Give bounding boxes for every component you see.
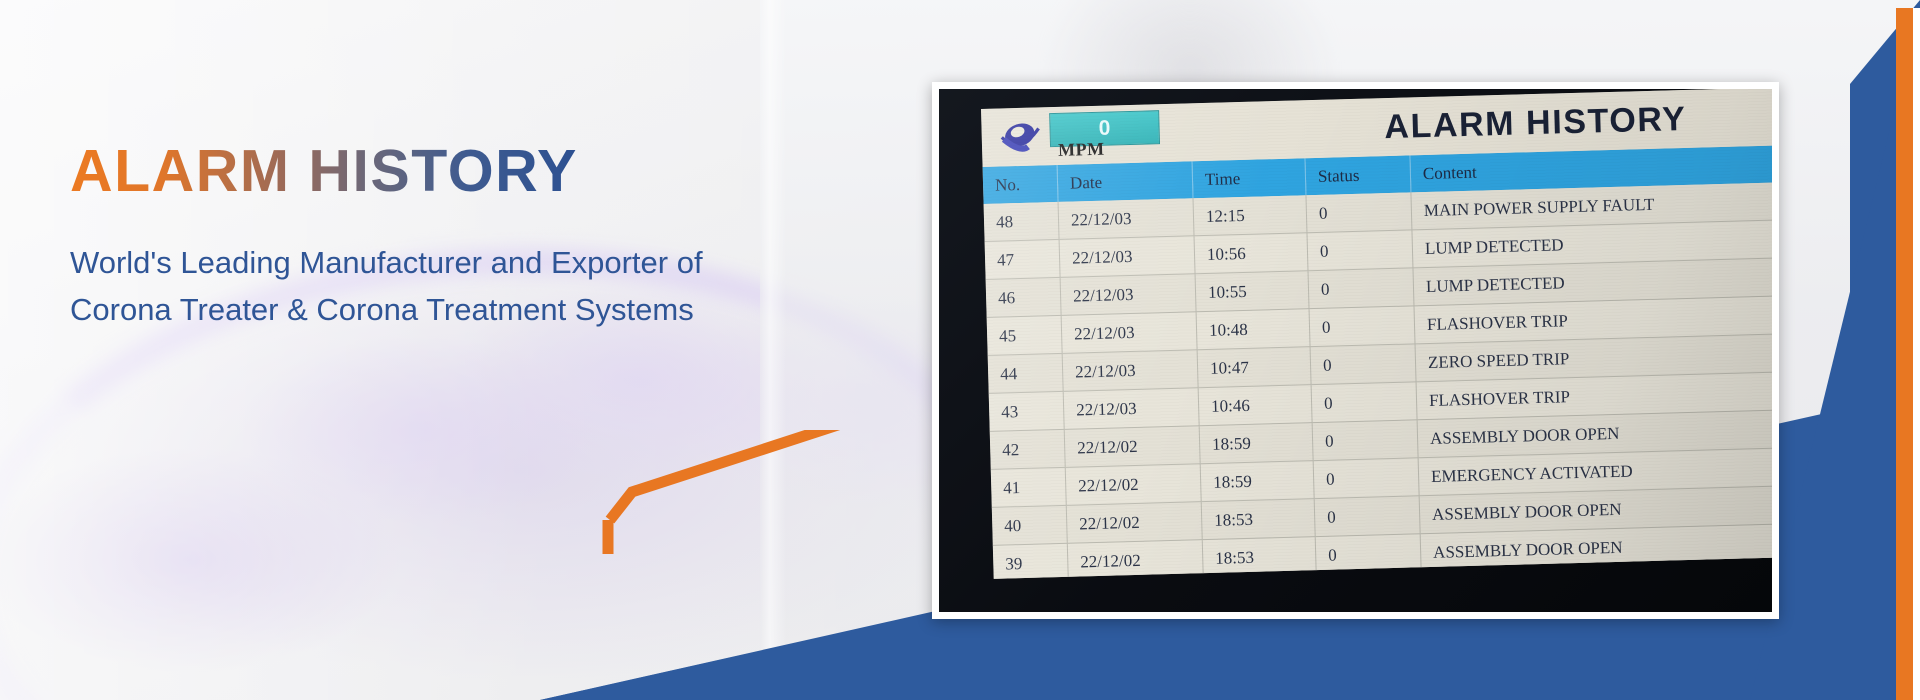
cell-time: 18:59 <box>1199 423 1313 464</box>
cell-no: 39 <box>993 543 1069 579</box>
cell-date: 22/12/03 <box>1062 350 1198 392</box>
page-title: ALARM HISTORY <box>70 137 578 205</box>
cell-time: 18:59 <box>1200 461 1314 502</box>
cell-status: 0 <box>1308 268 1414 309</box>
column-header-no[interactable]: No. <box>983 165 1058 204</box>
cell-time: 10:47 <box>1197 347 1311 388</box>
cell-time: 10:48 <box>1196 309 1310 350</box>
cell-date: 22/12/02 <box>1066 502 1202 544</box>
column-header-time[interactable]: Time <box>1192 158 1306 198</box>
cell-date: 22/12/02 <box>1064 426 1200 468</box>
cell-status: 0 <box>1311 382 1417 423</box>
cell-no: 40 <box>992 505 1068 545</box>
cell-date: 22/12/03 <box>1061 312 1197 354</box>
subtitle-line-1: World's Leading Manufacturer and Exporte… <box>70 240 930 287</box>
banner-stage: ALARM HISTORY World's Leading Manufactur… <box>0 0 1920 700</box>
column-header-date[interactable]: Date <box>1057 161 1193 202</box>
globe-swoosh-logo-icon <box>997 114 1044 159</box>
cell-time: 12:15 <box>1193 195 1307 236</box>
cell-status: 0 <box>1314 496 1420 537</box>
cell-time: 10:55 <box>1195 271 1309 312</box>
hmi-screen: 0 MPM ALARM HISTORY No. Date Time Status… <box>981 89 1772 579</box>
hmi-screen-title: ALARM HISTORY <box>1384 99 1687 146</box>
cell-status: 0 <box>1313 458 1419 499</box>
cell-status: 0 <box>1312 420 1418 461</box>
page-subtitle: World's Leading Manufacturer and Exporte… <box>70 240 930 333</box>
cell-no: 47 <box>985 239 1061 279</box>
cell-status: 0 <box>1306 192 1412 232</box>
cell-no: 42 <box>990 429 1066 469</box>
subtitle-line-2: Corona Treater & Corona Treatment System… <box>70 287 930 334</box>
hmi-photo: 0 MPM ALARM HISTORY No. Date Time Status… <box>939 89 1772 612</box>
alarm-table-body: 48 22/12/03 12:15 0 MAIN POWER SUPPLY FA… <box>984 181 1772 578</box>
column-header-status[interactable]: Status <box>1305 155 1411 195</box>
cell-time: 10:56 <box>1194 233 1308 274</box>
alarm-history-table: No. Date Time Status Content 48 22/12/03… <box>983 144 1772 578</box>
cell-status: 0 <box>1310 344 1416 385</box>
cell-no: 48 <box>984 202 1059 242</box>
cell-no: 43 <box>989 391 1065 431</box>
cell-date: 22/12/03 <box>1060 274 1196 316</box>
cell-time: 10:46 <box>1198 385 1312 426</box>
cell-date: 22/12/02 <box>1067 540 1203 579</box>
cell-date: 22/12/03 <box>1058 198 1194 239</box>
cell-no: 45 <box>987 315 1063 355</box>
cell-status: 0 <box>1309 306 1415 347</box>
cell-no: 46 <box>986 277 1062 317</box>
cell-date: 22/12/03 <box>1063 388 1199 430</box>
speed-unit-label: MPM <box>1058 139 1105 161</box>
cell-date: 22/12/03 <box>1059 236 1195 278</box>
cell-no: 44 <box>988 353 1064 393</box>
cell-date: 22/12/02 <box>1065 464 1201 506</box>
cell-status: 0 <box>1307 230 1413 271</box>
orange-chevron-accent <box>600 430 960 630</box>
cell-time: 18:53 <box>1201 499 1315 540</box>
cell-no: 41 <box>991 467 1067 507</box>
hmi-photo-card: 0 MPM ALARM HISTORY No. Date Time Status… <box>932 82 1779 619</box>
